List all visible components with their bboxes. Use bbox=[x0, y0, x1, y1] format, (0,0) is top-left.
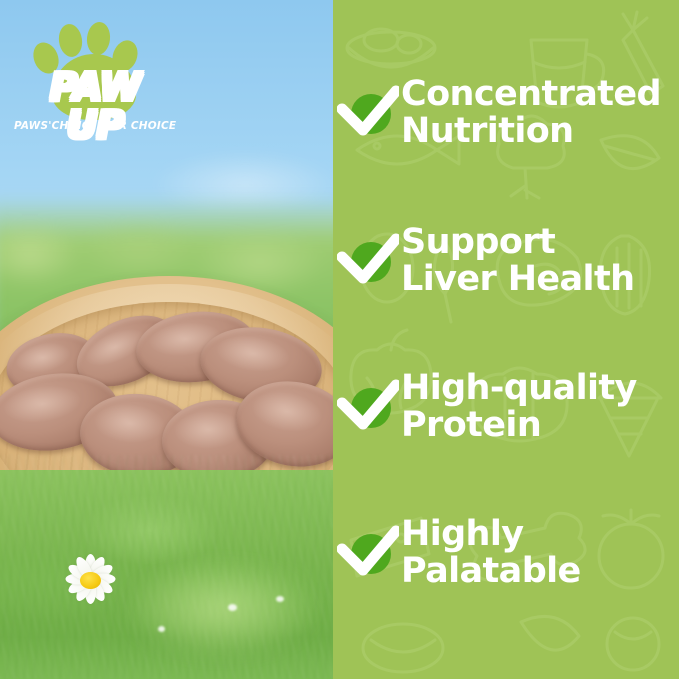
small-flower bbox=[158, 626, 165, 632]
feature-item-concentrated-nutrition: Concentrated Nutrition bbox=[337, 76, 679, 151]
feature-item-highly-palatable: Highly Palatable bbox=[337, 516, 679, 591]
feature-label: Concentrated Nutrition bbox=[401, 76, 661, 151]
features-panel: Concentrated Nutrition Support Liver Hea… bbox=[333, 0, 679, 679]
daisy-center bbox=[80, 572, 101, 589]
daisy-icon bbox=[56, 552, 126, 606]
brand-tagline: PAWS'CHOICE OUR CHOICE bbox=[14, 120, 174, 132]
brand-logo: PAW UP PAWS'CHOICE OUR CHOICE bbox=[14, 12, 174, 140]
feature-item-high-quality-protein: High-quality Protein bbox=[337, 370, 679, 445]
check-circle-icon bbox=[337, 376, 399, 438]
product-feature-banner: PAW UP PAWS'CHOICE OUR CHOICE bbox=[0, 0, 679, 679]
product-photo: PAW UP PAWS'CHOICE OUR CHOICE bbox=[0, 0, 333, 679]
paw-toe-icon bbox=[57, 23, 84, 59]
feature-label: Support Liver Health bbox=[401, 224, 634, 299]
grass-highlight bbox=[120, 560, 320, 660]
feature-label: High-quality Protein bbox=[401, 370, 637, 445]
feature-list: Concentrated Nutrition Support Liver Hea… bbox=[333, 0, 679, 679]
feature-label: Highly Palatable bbox=[401, 516, 581, 591]
small-flower bbox=[276, 596, 284, 602]
check-circle-icon bbox=[337, 522, 399, 584]
brand-name: PAW UP bbox=[20, 68, 170, 144]
small-flower bbox=[228, 604, 237, 611]
feature-item-support-liver-health: Support Liver Health bbox=[337, 224, 679, 299]
check-circle-icon bbox=[337, 230, 399, 292]
check-circle-icon bbox=[337, 82, 399, 144]
paw-toe-icon bbox=[85, 21, 111, 56]
